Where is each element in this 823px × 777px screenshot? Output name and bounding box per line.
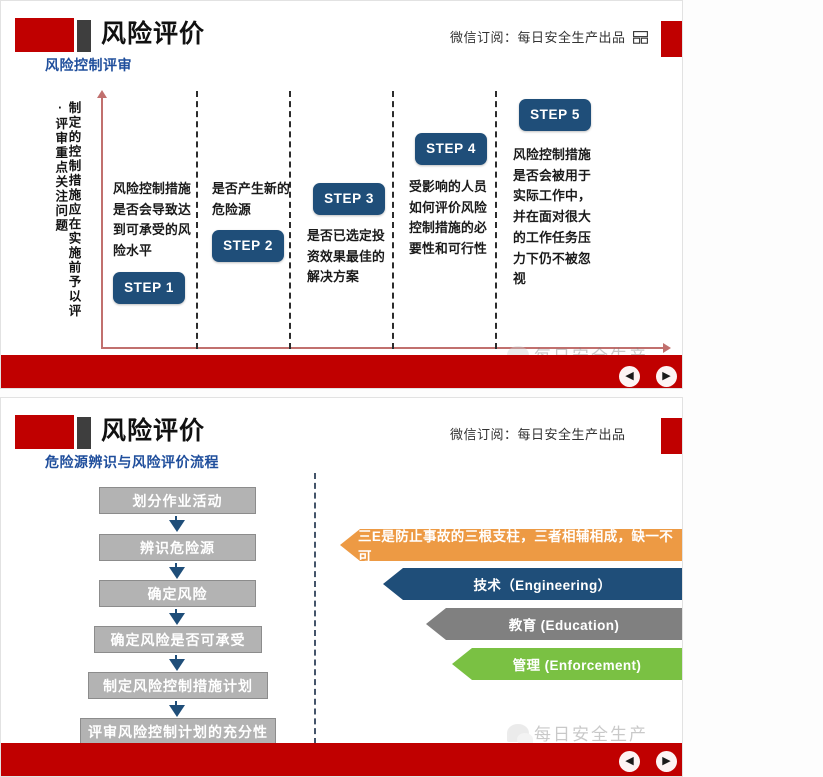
flow-step-6[interactable]: 评审风险控制计划的充分性 (80, 718, 276, 745)
slide2-watermark-text: 每日安全生产 (534, 720, 648, 745)
column-divider-4 (495, 91, 497, 349)
review-focus-caption-line1: 制定的控制措施应在实施前予以评 (66, 101, 79, 351)
chevron-three-e-label: 三E是防止事故的三根支柱，三者相辅相成，缺一不可 (358, 525, 683, 565)
wechat-icon-2 (507, 724, 529, 742)
step-column-1: 风险控制措施是否会导致达到可承受的风险水平 STEP 1 (113, 179, 199, 304)
step-3-text: 是否已选定投资效果最佳的解决方案 (307, 226, 393, 288)
chevron-education[interactable]: 教育 (Education) (426, 608, 683, 640)
header-gray-bar (77, 20, 91, 52)
header-red-block-left-2 (15, 415, 74, 449)
next-slide-button[interactable]: ▶ (656, 366, 677, 387)
slide2-title: 风险评价 (101, 415, 205, 447)
header-red-block-right-2 (661, 418, 683, 454)
step-1-text: 风险控制措施是否会导致达到可承受的风险水平 (113, 179, 199, 262)
prev-slide-button[interactable]: ◀ (619, 366, 640, 387)
step-4-text: 受影响的人员如何评价风险控制措施的必要性和可行性 (409, 177, 495, 260)
slide-risk-control-review: 风险评价 风险控制评审 微信订阅：每日安全生产出品 制定的控制措施应在实施前予以… (0, 0, 683, 389)
flow-arrow-3 (169, 613, 185, 625)
slide1-title: 风险评价 (101, 18, 205, 50)
review-focus-caption-line2: ·评审重点关注问题 (53, 101, 66, 351)
header-red-block-right (661, 21, 683, 57)
flow-step-5[interactable]: 制定风险控制措施计划 (88, 672, 268, 699)
section-divider (314, 473, 316, 744)
flow-arrow-2 (169, 567, 185, 579)
chevron-three-e[interactable]: 三E是防止事故的三根支柱，三者相辅相成，缺一不可 (340, 529, 683, 561)
header-red-block-left (15, 18, 74, 52)
slide2-nav: ◀ ▶ (619, 751, 677, 772)
step-column-4: STEP 4 受影响的人员如何评价风险控制措施的必要性和可行性 (409, 133, 495, 260)
flow-step-3[interactable]: 确定风险 (99, 580, 256, 607)
step-column-3: STEP 3 是否已选定投资效果最佳的解决方案 (307, 183, 393, 288)
step-5-text: 风险控制措施是否会被用于实际工作中，并在面对很大的工作任务压力下仍不被忽视 (513, 145, 599, 290)
slide1-nav: ◀ ▶ (619, 366, 677, 387)
flow-arrow-1 (169, 520, 185, 532)
slide2-header-note: 微信订阅：每日安全生产出品 (450, 424, 626, 443)
step-2-text: 是否产生新的危险源 (212, 179, 298, 220)
step-4-pill[interactable]: STEP 4 (415, 133, 487, 165)
step-column-2: 是否产生新的危险源 STEP 2 (212, 179, 298, 262)
chevron-engineering-label: 技术（Engineering） (473, 574, 611, 594)
step-3-pill[interactable]: STEP 3 (313, 183, 385, 215)
layout-icon (633, 31, 648, 44)
review-focus-caption: 制定的控制措施应在实施前予以评 ·评审重点关注问题 (53, 101, 80, 351)
slide2-footer-band (1, 743, 682, 776)
flow-step-4[interactable]: 确定风险是否可承受 (94, 626, 262, 653)
flow-arrow-5 (169, 705, 185, 717)
slide2-watermark: 每日安全生产 (507, 720, 648, 745)
header-gray-bar-2 (77, 417, 91, 449)
flow-arrow-4 (169, 659, 185, 671)
slide1-footer-band (1, 355, 682, 388)
slide-hazard-identification-flow: 风险评价 危险源辨识与风险评价流程 微信订阅：每日安全生产出品 划分作业活动 辨… (0, 397, 683, 777)
slide2-subtitle: 危险源辨识与风险评价流程 (45, 452, 219, 472)
flow-step-2[interactable]: 辨识危险源 (99, 534, 256, 561)
slide1-header-note: 微信订阅：每日安全生产出品 (450, 27, 626, 46)
vertical-axis-arrow (101, 97, 103, 349)
prev-slide-button-2[interactable]: ◀ (619, 751, 640, 772)
slide1-subtitle: 风险控制评审 (45, 55, 132, 75)
step-1-pill[interactable]: STEP 1 (113, 272, 185, 304)
next-slide-button-2[interactable]: ▶ (656, 751, 677, 772)
chevron-engineering[interactable]: 技术（Engineering） (383, 568, 683, 600)
presentation-page: 风险评价 风险控制评审 微信订阅：每日安全生产出品 制定的控制措施应在实施前予以… (0, 0, 823, 777)
step-2-pill[interactable]: STEP 2 (212, 230, 284, 262)
step-column-5: STEP 5 风险控制措施是否会被用于实际工作中，并在面对很大的工作任务压力下仍… (513, 99, 599, 290)
chevron-enforcement[interactable]: 管理 (Enforcement) (452, 648, 683, 680)
chevron-enforcement-label: 管理 (Enforcement) (513, 654, 642, 674)
chevron-education-label: 教育 (Education) (509, 614, 620, 634)
step-5-pill[interactable]: STEP 5 (519, 99, 591, 131)
horizontal-axis-arrow (101, 347, 664, 349)
flow-step-1[interactable]: 划分作业活动 (99, 487, 256, 514)
